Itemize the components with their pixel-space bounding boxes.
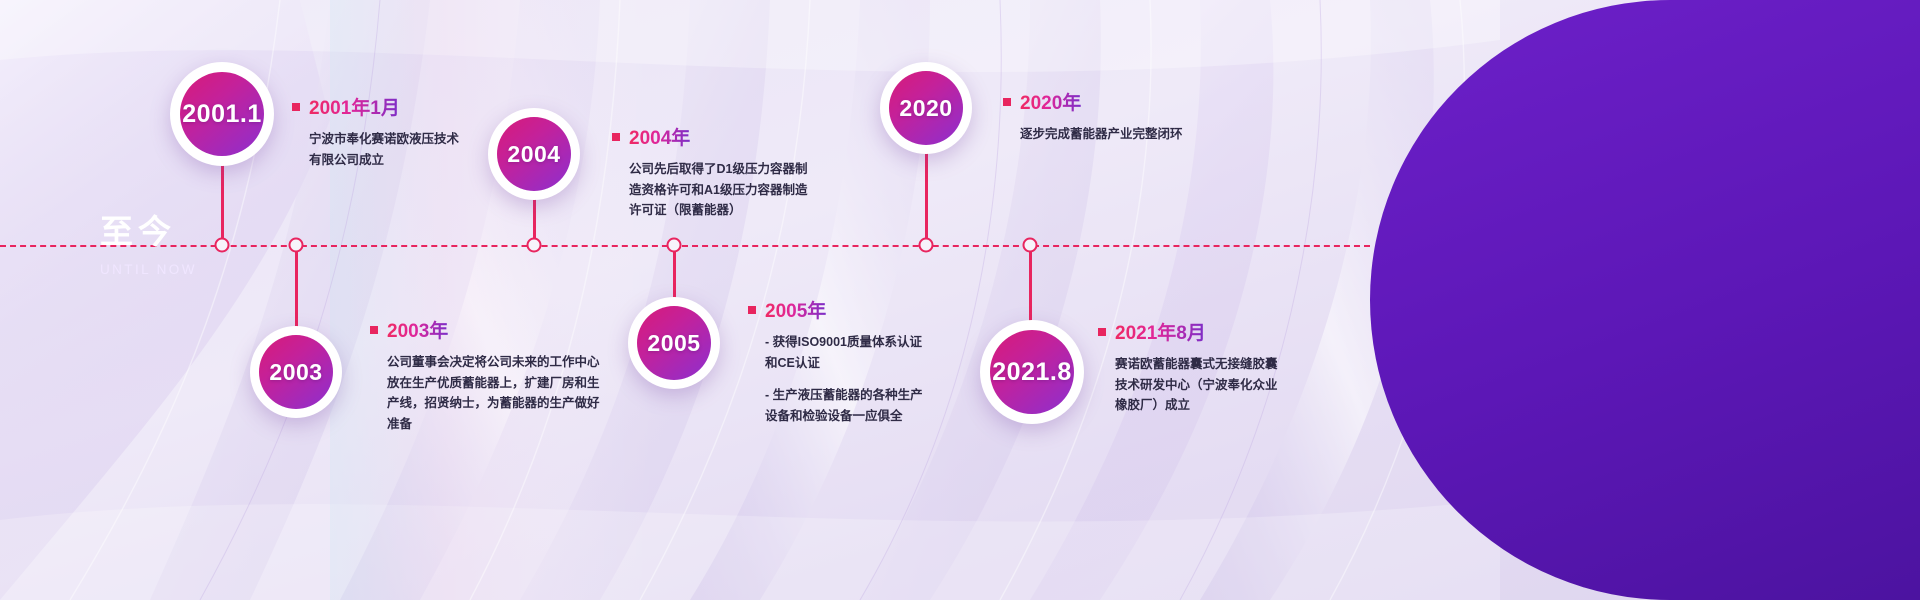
stem-2001 [221,164,224,246]
axis-node-2003 [289,238,304,253]
milestone-heading: 2003年 [370,316,600,343]
milestone-text-2001-1: 2001年1月 宁波市奉化赛诺欧液压技术 有限公司成立 [292,93,459,170]
axis-node-2021 [1023,238,1038,253]
milestone-heading: 2001年1月 [292,93,459,120]
stem-2021 [1029,246,1032,322]
milestone-heading: 2005年 [748,296,923,323]
axis-node-2020 [919,238,934,253]
milestone-body: 宁波市奉化赛诺欧液压技术 有限公司成立 [309,129,459,170]
milestone-bubble-label: 2003 [259,335,333,409]
milestone-body: 赛诺欧蓄能器囊式无接缝胶囊 技术研发中心（宁波奉化众业 橡胶厂）成立 [1115,354,1278,416]
milestone-text-2004: 2004年 公司先后取得了D1级压力容器制 造资格许可和A1级压力容器制造 许可… [612,123,807,221]
bullet-square-icon [1098,328,1106,336]
milestone-body-line: 公司董事会决定将公司未来的工作中心 放在生产优质蓄能器上，扩建厂房和生 产线，招… [387,352,600,435]
until-now-title-zh: 至今 [100,212,197,252]
milestone-bubble-label: 2020 [889,71,963,145]
milestone-body-line: 逐步完成蓄能器产业完整闭环 [1020,124,1183,145]
axis-node-2005 [667,238,682,253]
until-now-text: 至今 UNTIL NOW [100,212,197,277]
stem-2005 [673,246,676,300]
bullet-square-icon [1003,98,1011,106]
stem-2020 [925,152,928,246]
milestone-text-2020: 2020年 逐步完成蓄能器产业完整闭环 [1003,88,1183,145]
milestone-bubble-2004[interactable]: 2004 [488,108,580,200]
timeline-axis [0,245,1370,247]
milestone-text-2003: 2003年 公司董事会决定将公司未来的工作中心 放在生产优质蓄能器上，扩建厂房和… [370,316,600,435]
milestone-title: 2004年 [629,123,690,150]
milestone-bubble-2005[interactable]: 2005 [628,297,720,389]
milestone-body-line: 宁波市奉化赛诺欧液压技术 有限公司成立 [309,129,459,170]
milestone-bubble-label: 2005 [637,306,711,380]
milestone-body: 公司先后取得了D1级压力容器制 造资格许可和A1级压力容器制造 许可证（限蓄能器… [629,159,807,221]
axis-node-2004 [527,238,542,253]
milestone-title: 2003年 [387,316,448,343]
milestone-title: 2005年 [765,296,826,323]
milestone-heading: 2004年 [612,123,807,150]
bullet-square-icon [370,326,378,334]
milestone-body-line: 公司先后取得了D1级压力容器制 造资格许可和A1级压力容器制造 许可证（限蓄能器… [629,159,807,221]
milestone-text-2021-8: 2021年8月 赛诺欧蓄能器囊式无接缝胶囊 技术研发中心（宁波奉化众业 橡胶厂）… [1098,318,1278,416]
stem-2003 [295,246,298,330]
milestone-body-line: - 生产液压蓄能器的各种生产 设备和检验设备一应俱全 [765,385,923,426]
milestone-bubble-2003[interactable]: 2003 [250,326,342,418]
milestone-body: 逐步完成蓄能器产业完整闭环 [1020,124,1183,145]
milestone-title: 2001年1月 [309,93,400,120]
bullet-square-icon [292,103,300,111]
milestone-heading: 2020年 [1003,88,1183,115]
milestone-bubble-label: 2021.8 [990,330,1074,414]
bullet-square-icon [612,133,620,141]
milestone-heading: 2021年8月 [1098,318,1278,345]
milestone-body: - 获得ISO9001质量体系认证 和CE认证 - 生产液压蓄能器的各种生产 设… [765,332,923,427]
milestone-body-line: 赛诺欧蓄能器囊式无接缝胶囊 技术研发中心（宁波奉化众业 橡胶厂）成立 [1115,354,1278,416]
milestone-bubble-label: 2004 [497,117,571,191]
milestone-bubble-2021-8[interactable]: 2021.8 [980,320,1084,424]
milestone-bubble-2020[interactable]: 2020 [880,62,972,154]
milestone-bubble-2001-1[interactable]: 2001.1 [170,62,274,166]
milestone-title: 2021年8月 [1115,318,1206,345]
milestone-bubble-label: 2001.1 [180,72,264,156]
milestone-text-2005: 2005年 - 获得ISO9001质量体系认证 和CE认证 - 生产液压蓄能器的… [748,296,923,427]
milestone-title: 2020年 [1020,88,1081,115]
until-now-title-en: UNTIL NOW [100,262,197,277]
bullet-square-icon [748,306,756,314]
milestone-body-line: - 获得ISO9001质量体系认证 和CE认证 [765,332,923,373]
milestone-body: 公司董事会决定将公司未来的工作中心 放在生产优质蓄能器上，扩建厂房和生 产线，招… [387,352,600,435]
axis-node-2001 [215,238,230,253]
